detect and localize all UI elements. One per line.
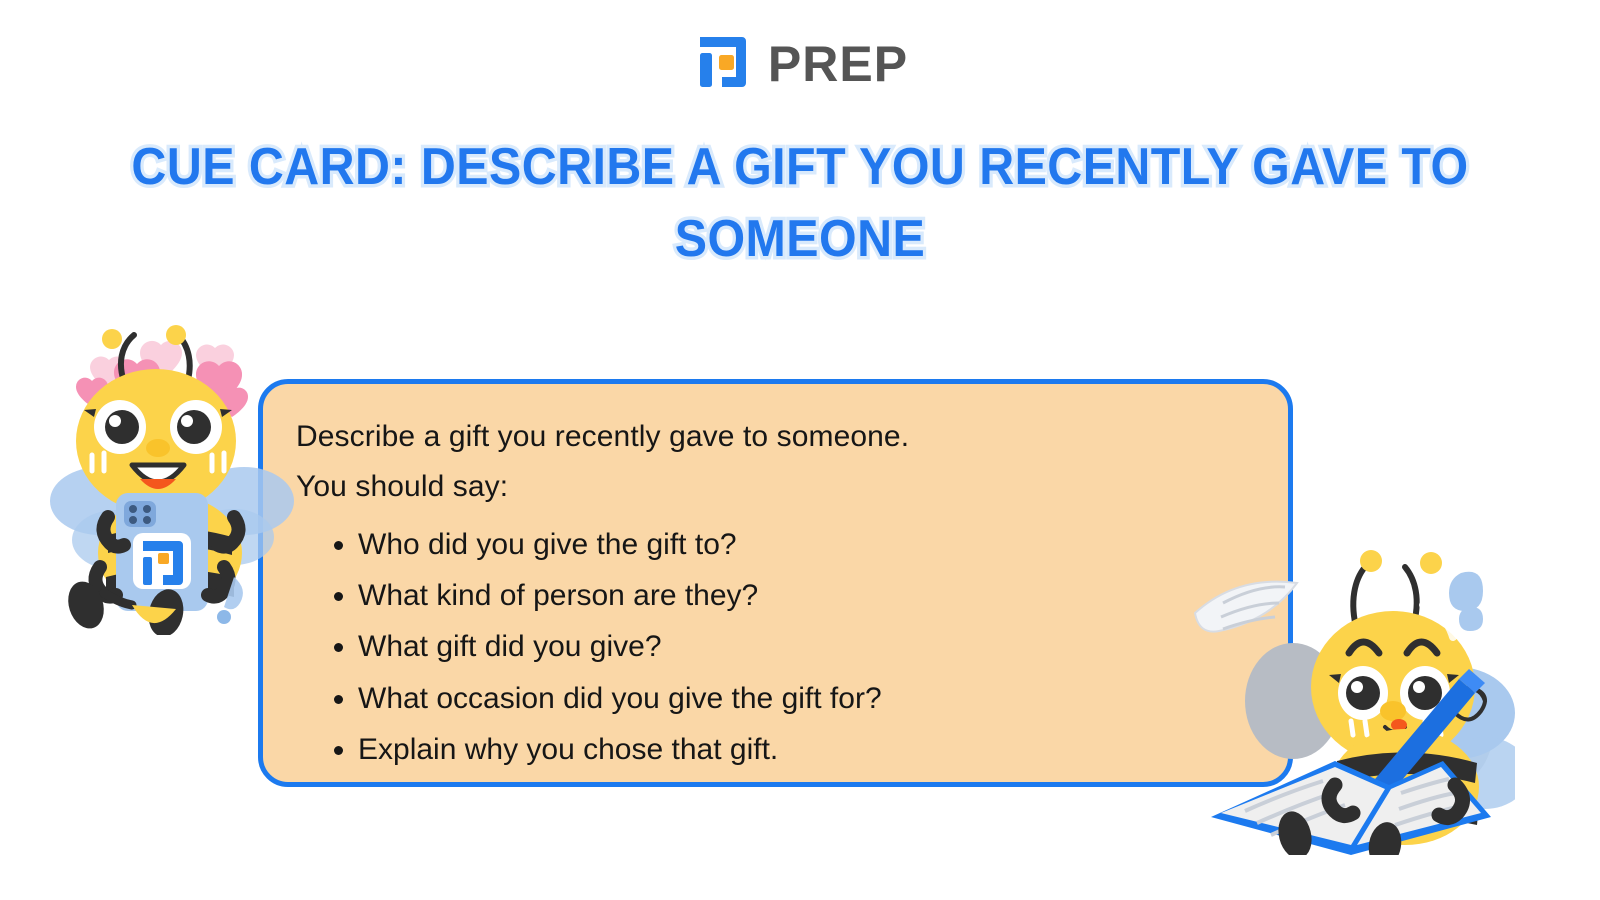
cue-card-prompt: Describe a gift you recently gave to som…: [296, 412, 1258, 462]
list-item: What occasion did you give the gift for?: [296, 673, 1258, 724]
cue-card: Describe a gift you recently gave to som…: [258, 379, 1293, 787]
list-item: What kind of person are they?: [296, 570, 1258, 621]
cue-card-body: Describe a gift you recently gave to som…: [296, 412, 1258, 775]
brand-name: PREP: [768, 39, 908, 89]
paper-sheet-icon: [1195, 582, 1297, 632]
prep-square-logo-icon: [692, 33, 754, 95]
brand-logo: PREP: [0, 24, 1600, 104]
bee-with-phone-mascot: [48, 305, 298, 635]
cue-card-bullet-list: Who did you give the gift to? What kind …: [296, 519, 1258, 775]
list-item: Explain why you chose that gift.: [296, 724, 1258, 775]
page-title: Cue card: Describe a gift you recently g…: [121, 132, 1479, 276]
bee-writing-in-book-mascot: [1185, 535, 1515, 855]
list-item: What gift did you give?: [296, 621, 1258, 672]
list-item: Who did you give the gift to?: [296, 519, 1258, 570]
slide-canvas: PREP Cue card: Describe a gift you recen…: [0, 0, 1600, 900]
cue-card-instruction: You should say:: [296, 462, 1258, 512]
